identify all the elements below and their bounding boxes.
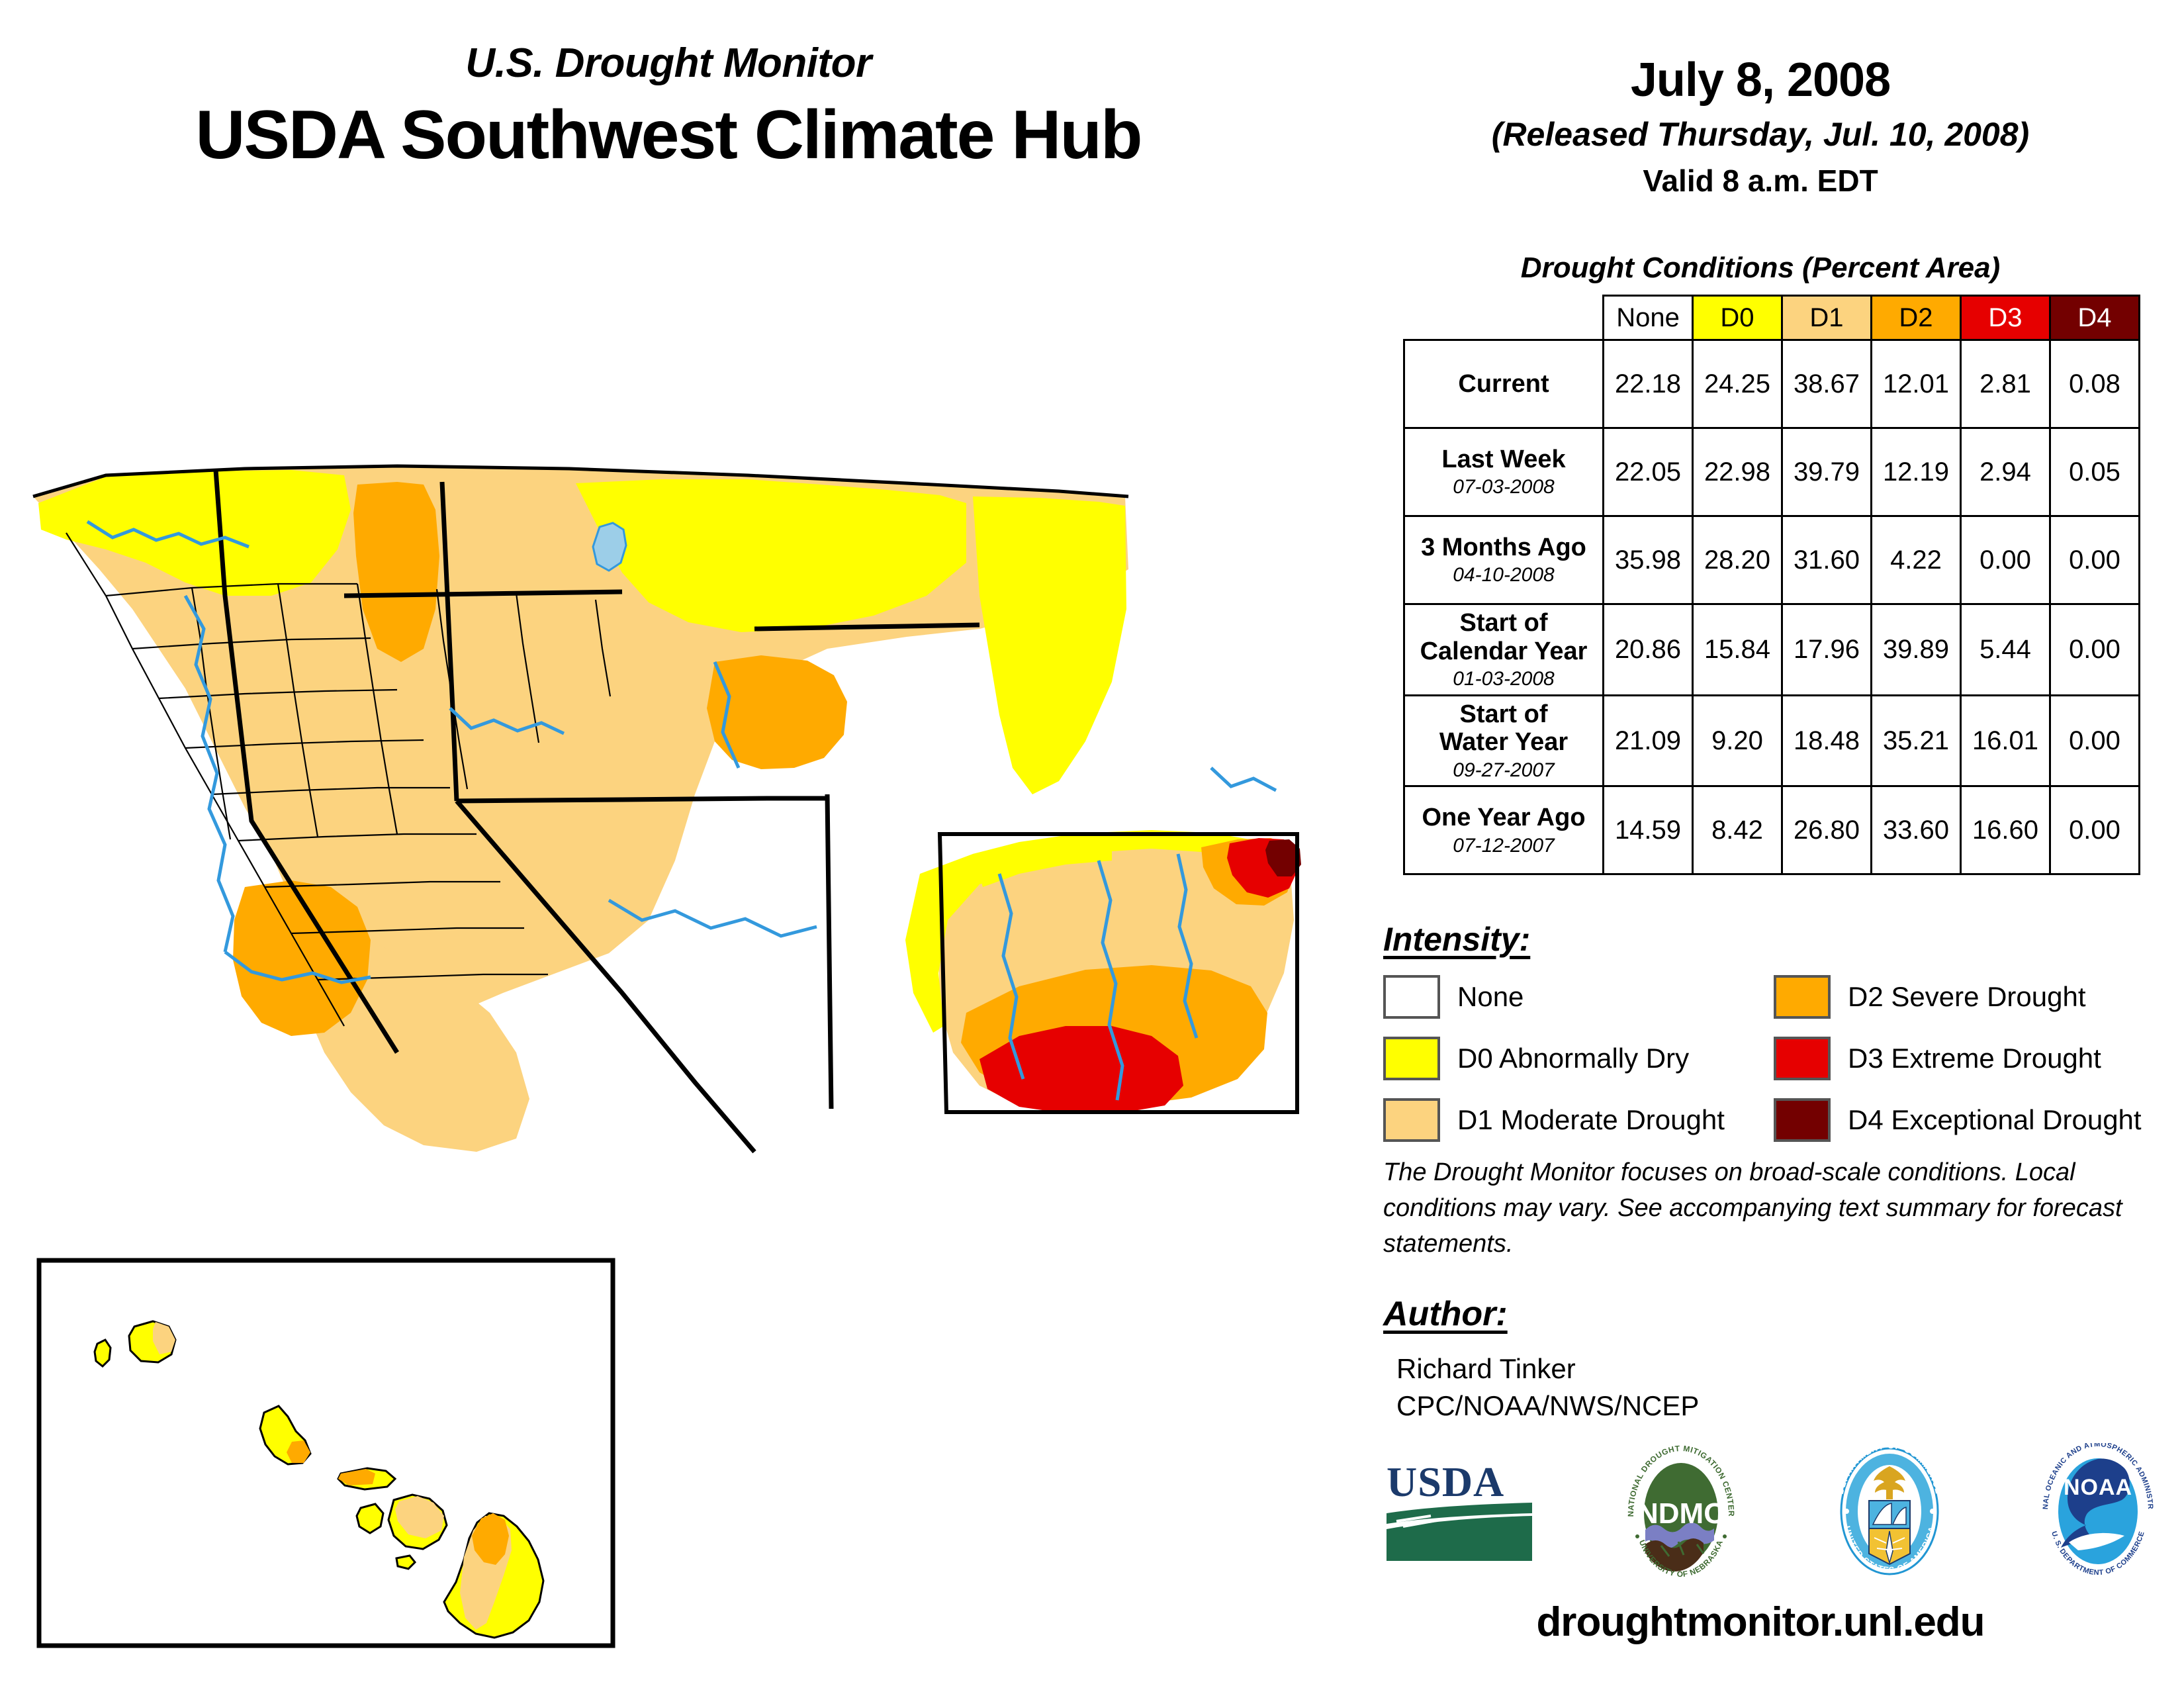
- table-corner-cell: [1404, 296, 1604, 340]
- table-cell-d4: 0.00: [2050, 604, 2140, 696]
- legend-item: D2 Severe Drought: [1774, 972, 2142, 1022]
- table-row-label: Start ofCalendar Year01-03-2008: [1404, 604, 1604, 696]
- hawaii-inset-map[interactable]: [36, 1258, 615, 1648]
- legend-item: D1 Moderate Drought: [1383, 1095, 1725, 1145]
- table-cell-d2: 12.19: [1872, 428, 1961, 516]
- table-cell-d2: 33.60: [1872, 786, 1961, 874]
- table-cell-d0: 9.20: [1693, 695, 1782, 786]
- legend-item: None: [1383, 972, 1725, 1022]
- table-cell-d2: 4.22: [1872, 516, 1961, 604]
- table-col-header-none: None: [1604, 296, 1693, 340]
- table-cell-none: 14.59: [1604, 786, 1693, 874]
- table-cell-d0: 28.20: [1693, 516, 1782, 604]
- table-cell-none: 20.86: [1604, 604, 1693, 696]
- table-cell-d2: 12.01: [1872, 340, 1961, 428]
- author-affiliation: CPC/NOAA/NWS/NCEP: [1396, 1387, 1699, 1425]
- drought-conditions-table: NoneD0D1D2D3D4 Current22.1824.2538.6712.…: [1403, 295, 2140, 875]
- table-cell-none: 35.98: [1604, 516, 1693, 604]
- table-row-label: 3 Months Ago04-10-2008: [1404, 516, 1604, 604]
- drought-monitor-supertitle: U.S. Drought Monitor: [0, 40, 1337, 87]
- table-cell-d2: 39.89: [1872, 604, 1961, 696]
- table-cell-d3: 0.00: [1961, 516, 2050, 604]
- table-col-header-d3: D3: [1961, 296, 2050, 340]
- legend-swatch-left-0: [1383, 975, 1440, 1019]
- legend-label: D0 Abnormally Dry: [1457, 1043, 1689, 1074]
- valid-date: July 8, 2008: [1337, 53, 2184, 107]
- table-row: Start ofWater Year09-27-200721.099.2018.…: [1404, 695, 2140, 786]
- legend-label: D1 Moderate Drought: [1457, 1104, 1725, 1136]
- table-cell-d4: 0.00: [2050, 786, 2140, 874]
- logo-row: USDA NDMC NATIONAL DROUGHT MITIGATION CE…: [1383, 1440, 2164, 1585]
- usda-logo: USDA: [1383, 1455, 1535, 1571]
- legend-label: D4 Exceptional Drought: [1848, 1104, 2142, 1136]
- table-col-header-d2: D2: [1872, 296, 1961, 340]
- legend-swatch-right-1: [1774, 1037, 1831, 1080]
- legend-item: D0 Abnormally Dry: [1383, 1033, 1725, 1084]
- legend-swatch-left-1: [1383, 1037, 1440, 1080]
- legend-swatch-right-2: [1774, 1098, 1831, 1142]
- table-row-sublabel: 04-10-2008: [1408, 564, 1600, 586]
- table-row-label: Current: [1404, 340, 1604, 428]
- legend-column-right: D2 Severe DroughtD3 Extreme DroughtD4 Ex…: [1774, 972, 2142, 1156]
- table-header: NoneD0D1D2D3D4: [1404, 296, 2140, 340]
- table-cell-d1: 26.80: [1782, 786, 1872, 874]
- table-cell-d1: 38.67: [1782, 340, 1872, 428]
- table-col-header-d0: D0: [1693, 296, 1782, 340]
- intensity-heading: Intensity:: [1383, 920, 1530, 959]
- table-row: One Year Ago07-12-200714.598.4226.8033.6…: [1404, 786, 2140, 874]
- table-body: Current22.1824.2538.6712.012.810.08Last …: [1404, 340, 2140, 874]
- map-lake: [593, 523, 626, 571]
- legend-item: D4 Exceptional Drought: [1774, 1095, 2142, 1145]
- table-cell-d3: 2.94: [1961, 428, 2050, 516]
- table-row-label: One Year Ago07-12-2007: [1404, 786, 1604, 874]
- svg-text:NOAA: NOAA: [2064, 1475, 2132, 1500]
- table-row-sublabel: 09-27-2007: [1408, 759, 1600, 782]
- legend-swatch-left-2: [1383, 1098, 1440, 1142]
- legend-label: None: [1457, 981, 1524, 1013]
- release-date: (Released Thursday, Jul. 10, 2008): [1337, 115, 2184, 154]
- table-cell-d3: 5.44: [1961, 604, 2050, 696]
- table-cell-d0: 8.42: [1693, 786, 1782, 874]
- table-cell-d2: 35.21: [1872, 695, 1961, 786]
- legend-label: D2 Severe Drought: [1848, 981, 2086, 1013]
- table-cell-d4: 0.00: [2050, 516, 2140, 604]
- table-cell-d1: 17.96: [1782, 604, 1872, 696]
- page-title: USDA Southwest Climate Hub: [0, 96, 1337, 175]
- table-col-header-d4: D4: [2050, 296, 2140, 340]
- header-right: July 8, 2008 (Released Thursday, Jul. 10…: [1337, 53, 2184, 199]
- table-cell-d1: 39.79: [1782, 428, 1872, 516]
- table-row: Last Week07-03-200822.0522.9839.7912.192…: [1404, 428, 2140, 516]
- table-row-label: Start ofWater Year09-27-2007: [1404, 695, 1604, 786]
- table-cell-none: 22.18: [1604, 340, 1693, 428]
- footer-url: droughtmonitor.unl.edu: [1337, 1599, 2184, 1646]
- author-heading: Author:: [1383, 1294, 1508, 1334]
- noaa-logo: NOAA NATIONAL OCEANIC AND ATMOSPHERIC AD…: [2032, 1443, 2164, 1582]
- table-cell-d3: 16.01: [1961, 695, 2050, 786]
- legend-item: D3 Extreme Drought: [1774, 1033, 2142, 1084]
- table-row-sublabel: 01-03-2008: [1408, 668, 1600, 690]
- table-row-sublabel: 07-03-2008: [1408, 476, 1600, 498]
- valid-time: Valid 8 a.m. EDT: [1337, 163, 2184, 199]
- table-row: 3 Months Ago04-10-200835.9828.2031.604.2…: [1404, 516, 2140, 604]
- table-row-sublabel: 07-12-2007: [1408, 835, 1600, 857]
- d0-region-east: [973, 496, 1126, 794]
- table-cell-d3: 2.81: [1961, 340, 2050, 428]
- table-cell-d1: 18.48: [1782, 695, 1872, 786]
- table-row-label: Last Week07-03-2008: [1404, 428, 1604, 516]
- table-row: Start ofCalendar Year01-03-200820.8615.8…: [1404, 604, 2140, 696]
- table-cell-none: 22.05: [1604, 428, 1693, 516]
- table-header-row: NoneD0D1D2D3D4: [1404, 296, 2140, 340]
- legend-swatch-right-0: [1774, 975, 1831, 1019]
- doc-seal-logo: DEPARTMENT OF COMMERCE UNITED STATES OF …: [1827, 1445, 1952, 1581]
- author-name: Richard Tinker: [1396, 1350, 1699, 1387]
- table-cell-none: 21.09: [1604, 695, 1693, 786]
- d0-region-northwest: [38, 470, 351, 596]
- header-left: U.S. Drought Monitor USDA Southwest Clim…: [0, 40, 1337, 175]
- table-cell-d3: 16.60: [1961, 786, 2050, 874]
- ndmc-logo: NDMC NATIONAL DROUGHT MITIGATION CENTER …: [1615, 1445, 1747, 1581]
- table-cell-d4: 0.05: [2050, 428, 2140, 516]
- legend-label: D3 Extreme Drought: [1848, 1043, 2101, 1074]
- table-col-header-d1: D1: [1782, 296, 1872, 340]
- table-cell-d4: 0.00: [2050, 695, 2140, 786]
- table-cell-d1: 31.60: [1782, 516, 1872, 604]
- svg-text:NDMC: NDMC: [1637, 1497, 1725, 1530]
- author-block: Richard Tinker CPC/NOAA/NWS/NCEP: [1396, 1350, 1699, 1425]
- table-row: Current22.1824.2538.6712.012.810.08: [1404, 340, 2140, 428]
- drought-map[interactable]: [26, 397, 1343, 1271]
- table-cell-d0: 24.25: [1693, 340, 1782, 428]
- disclaimer-text: The Drought Monitor focuses on broad-sca…: [1383, 1155, 2151, 1262]
- table-cell-d0: 15.84: [1693, 604, 1782, 696]
- table-cell-d0: 22.98: [1693, 428, 1782, 516]
- svg-text:USDA: USDA: [1387, 1458, 1504, 1505]
- legend-column-left: NoneD0 Abnormally DryD1 Moderate Drought: [1383, 972, 1725, 1156]
- table-cell-d4: 0.08: [2050, 340, 2140, 428]
- table-caption: Drought Conditions (Percent Area): [1337, 252, 2184, 285]
